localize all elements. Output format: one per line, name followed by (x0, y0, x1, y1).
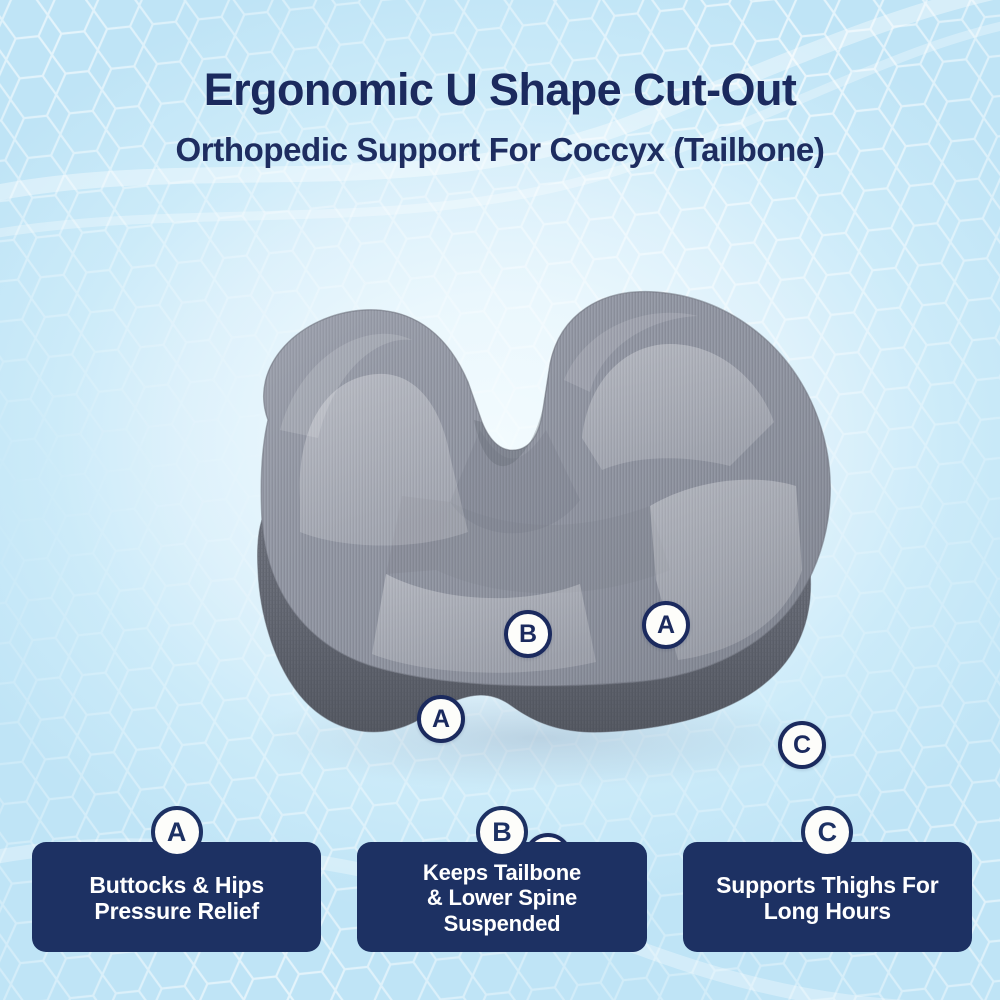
product-marker-c-right[interactable]: C (778, 721, 826, 769)
feature-card-a[interactable]: A Buttocks & Hips Pressure Relief (32, 842, 321, 952)
feature-text-a: Buttocks & Hips Pressure Relief (89, 872, 264, 924)
feature-badge-b: B (476, 806, 528, 858)
feature-text-c: Supports Thighs For Long Hours (716, 872, 938, 924)
page-subtitle: Orthopedic Support For Coccyx (Tailbone) (0, 132, 1000, 168)
infographic-page: Ergonomic U Shape Cut-Out Orthopedic Sup… (0, 0, 1000, 1000)
feature-card-list: A Buttocks & Hips Pressure Relief B Keep… (32, 842, 972, 952)
product-marker-b[interactable]: B (504, 610, 552, 658)
product-marker-a-left[interactable]: A (417, 695, 465, 743)
feature-badge-c: C (801, 806, 853, 858)
feature-card-c[interactable]: C Supports Thighs For Long Hours (683, 842, 972, 952)
page-title: Ergonomic U Shape Cut-Out (0, 66, 1000, 114)
product-marker-a-right[interactable]: A (642, 601, 690, 649)
feature-card-b[interactable]: B Keeps Tailbone & Lower Spine Suspended (357, 842, 646, 952)
header: Ergonomic U Shape Cut-Out Orthopedic Sup… (0, 0, 1000, 168)
feature-badge-a: A (151, 806, 203, 858)
product-image: A B A C C (150, 270, 870, 800)
feature-text-b: Keeps Tailbone & Lower Spine Suspended (423, 860, 581, 935)
